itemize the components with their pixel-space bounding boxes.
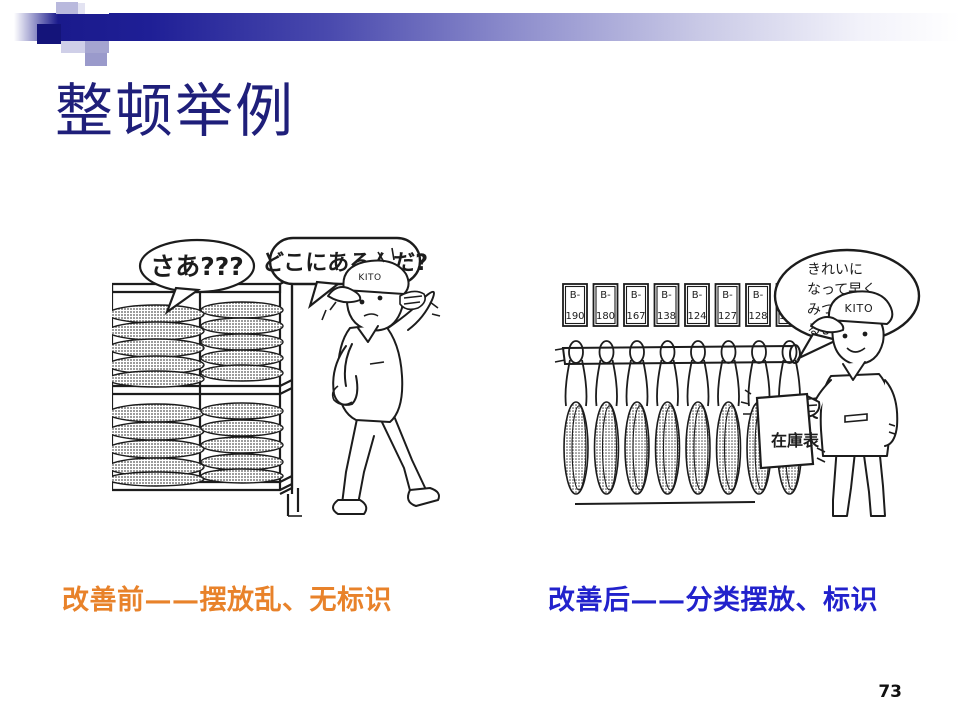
deco-square-mid-light: [85, 0, 109, 14]
rack-tag: B-190: [563, 284, 587, 326]
deco-square-navy: [37, 24, 61, 44]
rack-tag-number: 124: [687, 311, 706, 322]
svg-text:KITO: KITO: [844, 302, 873, 315]
deco-square-violet-top: [56, 2, 78, 14]
rack-tag: B-128: [746, 284, 770, 326]
rack-tag: B-167: [624, 284, 648, 326]
rack-tag: B-180: [594, 284, 618, 326]
caption-before: 改善前——摆放乱、无标识: [62, 578, 392, 617]
rack-tag: B-124: [685, 284, 709, 326]
page-title: 整顿举例: [55, 78, 295, 145]
svg-text:きれいに: きれいに: [807, 262, 863, 278]
right-illustration: B-190B-180B-167B-138B-124B-127B-128B-120…: [545, 248, 935, 528]
rack-tag-code: B-: [600, 290, 611, 301]
caption-after: 改善后——分类摆放、标识: [548, 578, 878, 617]
rack-tag-number: 190: [565, 311, 584, 322]
rack-tag-number: 128: [748, 311, 767, 322]
left-illustration: さあ??? どこにあるんだ?: [112, 236, 464, 526]
rack-tag-code: B-: [570, 290, 581, 301]
deco-square-violet-b: [85, 41, 109, 53]
slide-canvas: 整顿举例: [0, 0, 960, 720]
rack-tag-code: B-: [722, 290, 733, 301]
rack-tag-number: 180: [596, 311, 615, 322]
rack-tag-code: B-: [753, 290, 764, 301]
svg-text:在庫表: 在庫表: [771, 431, 820, 450]
svg-text:KITO: KITO: [358, 273, 381, 283]
deco-square-violet-a: [61, 41, 85, 53]
header-accent-bar: [0, 13, 960, 41]
svg-text:さあ???: さあ???: [150, 252, 244, 281]
rack-tag-code: B-: [692, 290, 703, 301]
rack-tag-code: B-: [661, 290, 672, 301]
deco-square-violet-c: [85, 53, 107, 66]
rack-tag-number: 167: [626, 311, 645, 322]
rack-tag: B-127: [716, 284, 740, 326]
rack-tag-number: 138: [657, 311, 676, 322]
rack-tag-number: 127: [718, 311, 737, 322]
page-number: 73: [878, 682, 902, 702]
rack-tag-code: B-: [631, 290, 642, 301]
rack-tag: B-138: [655, 284, 679, 326]
